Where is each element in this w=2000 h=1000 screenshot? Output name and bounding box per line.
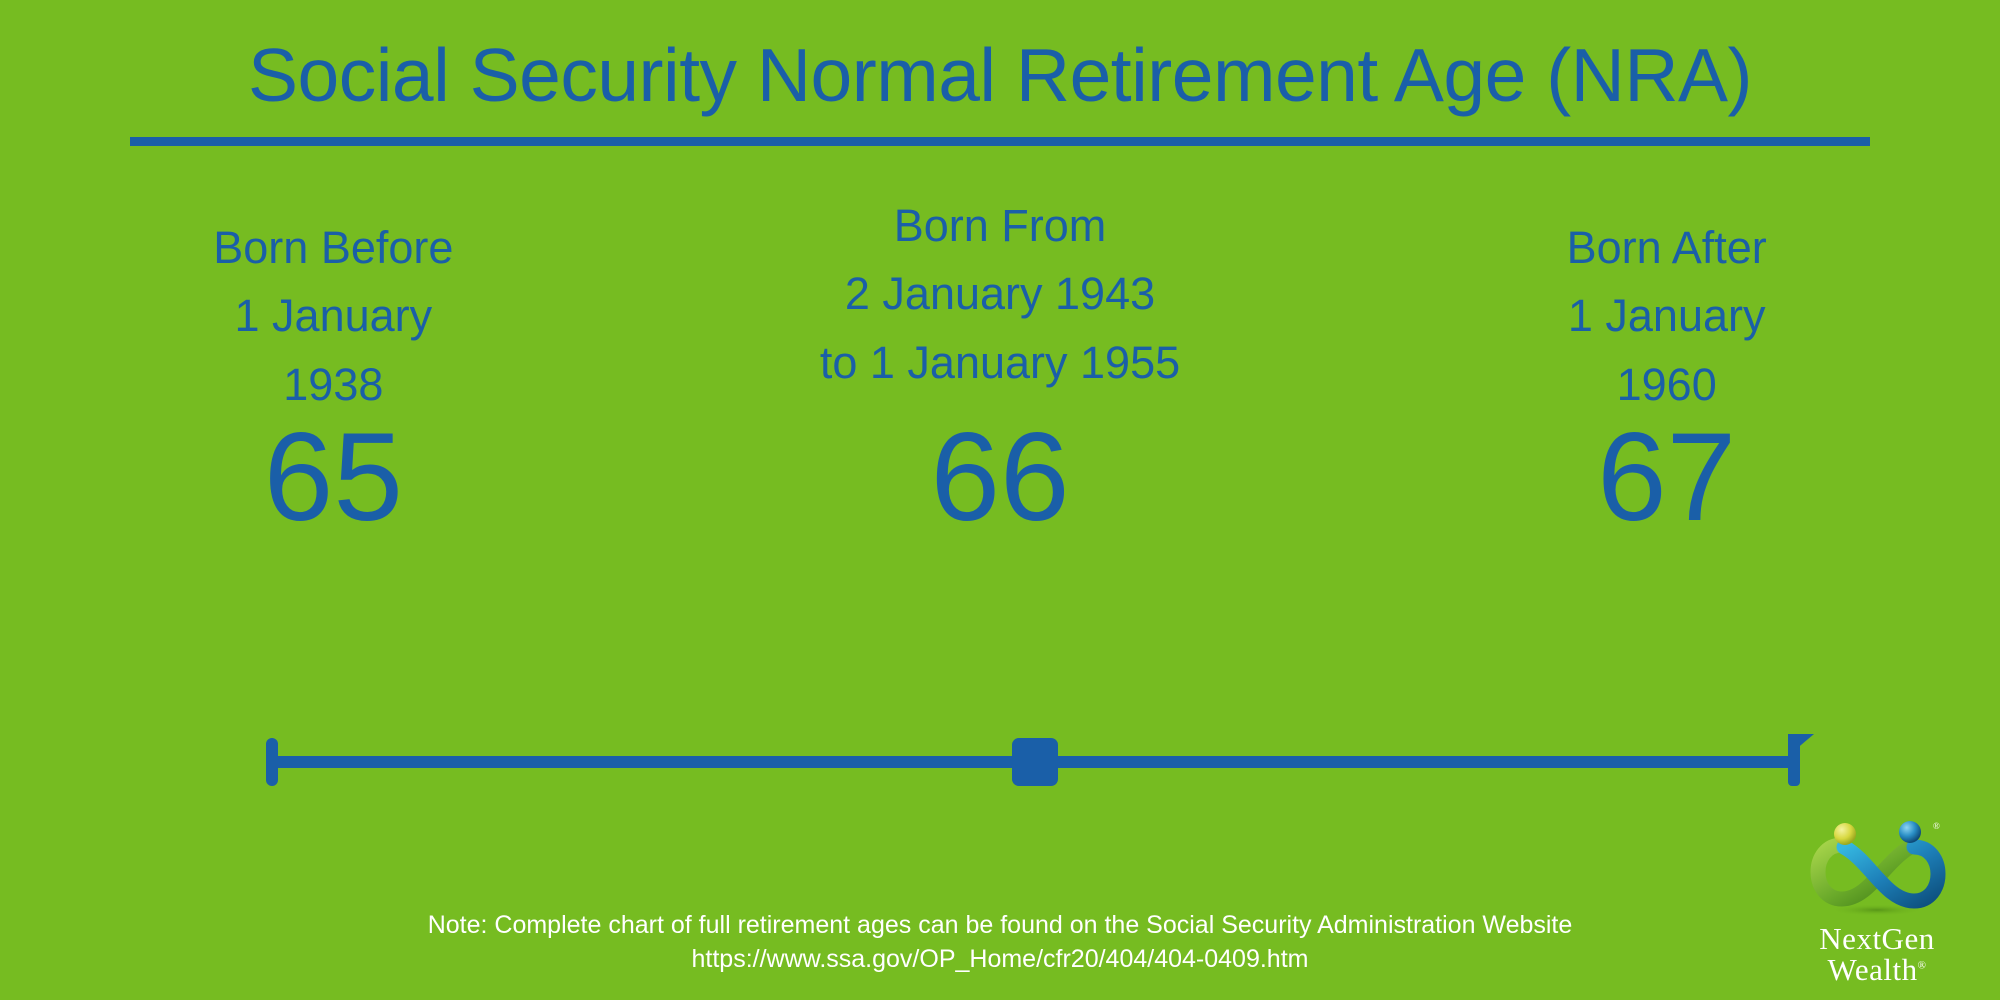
- infinity-logo-icon: ®: [1802, 817, 1952, 921]
- heading-line-3: to 1 January 1955: [820, 329, 1180, 397]
- timeline-arrow-icon: [1788, 734, 1814, 756]
- retirement-age-value: 66: [930, 415, 1069, 540]
- column-heading: Born Before 1 January 1938: [213, 214, 453, 419]
- column-heading: Born From 2 January 1943 to 1 January 19…: [820, 192, 1180, 397]
- heading-line-2: 1 January: [1567, 282, 1767, 350]
- brand-name: NextGen Wealth®: [1782, 923, 1972, 985]
- brand-name-line-2: Wealth®: [1782, 954, 1972, 985]
- footer-note-text: Note: Complete chart of full retirement …: [0, 908, 2000, 942]
- heading-line-2: 2 January 1943: [820, 260, 1180, 328]
- timeline-start-tick-icon: [266, 738, 278, 786]
- title-block: Social Security Normal Retirement Age (N…: [0, 38, 2000, 146]
- columns-container: Born Before 1 January 1938 65 Born From …: [0, 210, 2000, 690]
- timeline: [270, 756, 1800, 768]
- heading-line-1: Born After: [1567, 214, 1767, 282]
- timeline-square-marker-icon: [1012, 738, 1058, 786]
- footer-source-url[interactable]: https://www.ssa.gov/OP_Home/cfr20/404/40…: [0, 942, 2000, 976]
- retirement-age-value: 65: [264, 415, 403, 540]
- infographic-canvas: Social Security Normal Retirement Age (N…: [0, 0, 2000, 1000]
- brand-name-line-1: NextGen: [1782, 923, 1972, 954]
- heading-line-1: Born Before: [213, 214, 453, 282]
- retirement-age-value: 67: [1597, 415, 1736, 540]
- column-born-before: Born Before 1 January 1938 65: [0, 210, 667, 690]
- title-divider: [130, 137, 1870, 146]
- heading-line-1: Born From: [820, 192, 1180, 260]
- page-title: Social Security Normal Retirement Age (N…: [0, 38, 2000, 113]
- column-heading: Born After 1 January 1960: [1567, 214, 1767, 419]
- brand-logo: ® NextGen Wealth®: [1782, 817, 1972, 992]
- footer-note: Note: Complete chart of full retirement …: [0, 908, 2000, 976]
- svg-text:®: ®: [1933, 821, 1940, 831]
- heading-line-2: 1 January: [213, 282, 453, 350]
- column-born-after: Born After 1 January 1960 67: [1333, 210, 2000, 690]
- column-born-from: Born From 2 January 1943 to 1 January 19…: [667, 210, 1334, 690]
- registered-mark: ®: [1918, 960, 1927, 972]
